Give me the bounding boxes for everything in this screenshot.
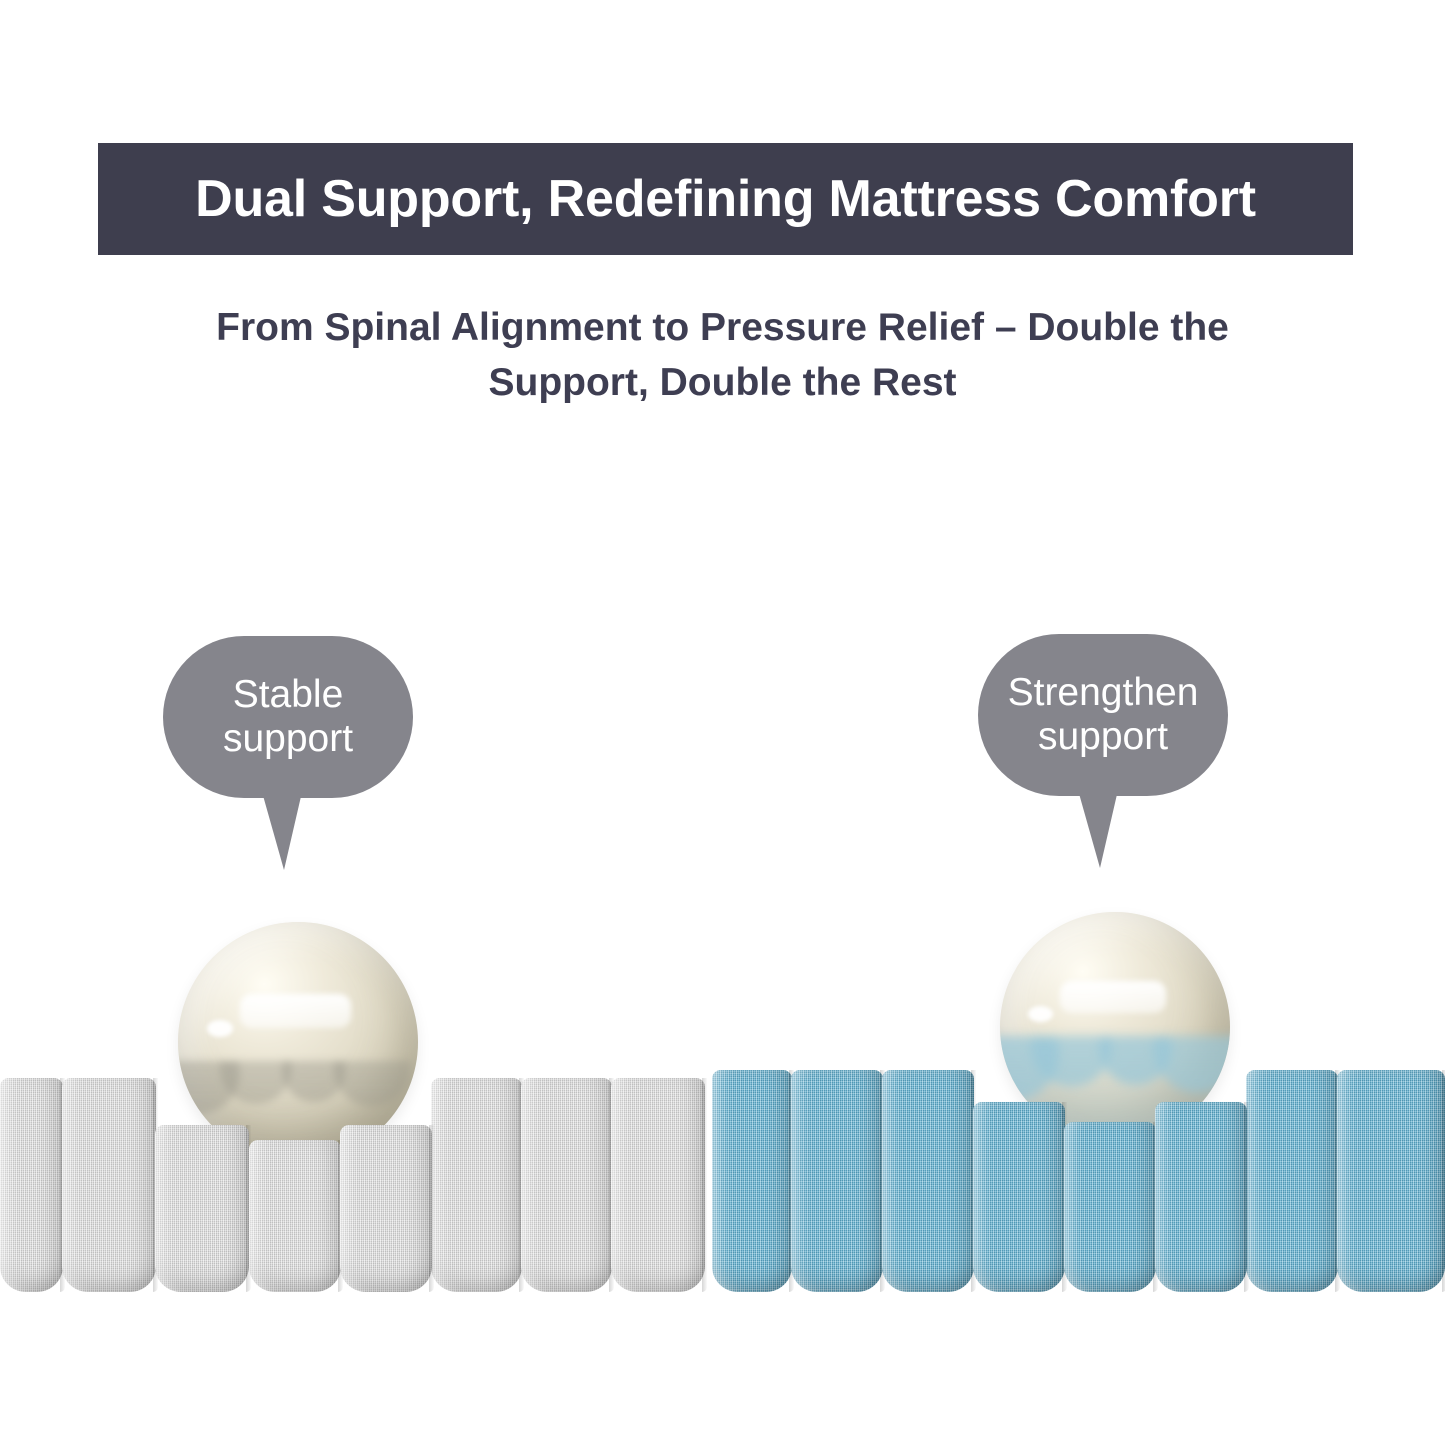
- callout-right-line1: Strengthen: [1008, 671, 1199, 714]
- callout-left-line1: Stable: [233, 673, 344, 716]
- callout-left-line2: support: [223, 717, 353, 760]
- coil-blue-2: [791, 1070, 883, 1292]
- ball-right-highlight-dot: [1028, 1006, 1053, 1022]
- coil-gray-4: [249, 1140, 341, 1292]
- coil-gray-6: [431, 1078, 522, 1292]
- subtitle-text: From Spinal Alignment to Pressure Relief…: [150, 300, 1295, 411]
- coil-blue-4: [973, 1102, 1065, 1292]
- coil-blue-7: [1246, 1070, 1338, 1292]
- coil-blue-5: [1064, 1122, 1156, 1292]
- coil-gray-1: [0, 1078, 63, 1292]
- coil-gray-3: [155, 1125, 249, 1292]
- callout-bubble-stable-support: Stable support: [163, 636, 413, 798]
- callout-right-line2: support: [1038, 715, 1168, 758]
- infographic-canvas: Dual Support, Redefining Mattress Comfor…: [0, 0, 1445, 1445]
- coil-blue-6: [1155, 1102, 1247, 1292]
- page-title: Dual Support, Redefining Mattress Comfor…: [195, 173, 1256, 225]
- ball-right-highlight-band: [1060, 981, 1166, 1013]
- ball-left-highlight-band: [240, 994, 350, 1028]
- coil-blue-1: [712, 1070, 792, 1292]
- callout-label-right: Strengthen support: [994, 671, 1213, 758]
- callout-bubble-strengthen-support: Strengthen support: [978, 634, 1228, 796]
- coil-gray-8: [611, 1078, 705, 1292]
- callout-pointer-right-icon: [1078, 790, 1118, 868]
- callout-label-left: Stable support: [209, 673, 367, 760]
- coil-gray-5: [340, 1125, 432, 1292]
- callout-pointer-left-icon: [262, 792, 302, 870]
- ball-left-highlight-dot: [207, 1020, 233, 1037]
- coil-blue-3: [882, 1070, 974, 1292]
- title-banner: Dual Support, Redefining Mattress Comfor…: [98, 143, 1353, 255]
- coil-gray-2: [62, 1078, 156, 1292]
- coil-gray-7: [521, 1078, 612, 1292]
- coil-blue-8: [1337, 1070, 1445, 1292]
